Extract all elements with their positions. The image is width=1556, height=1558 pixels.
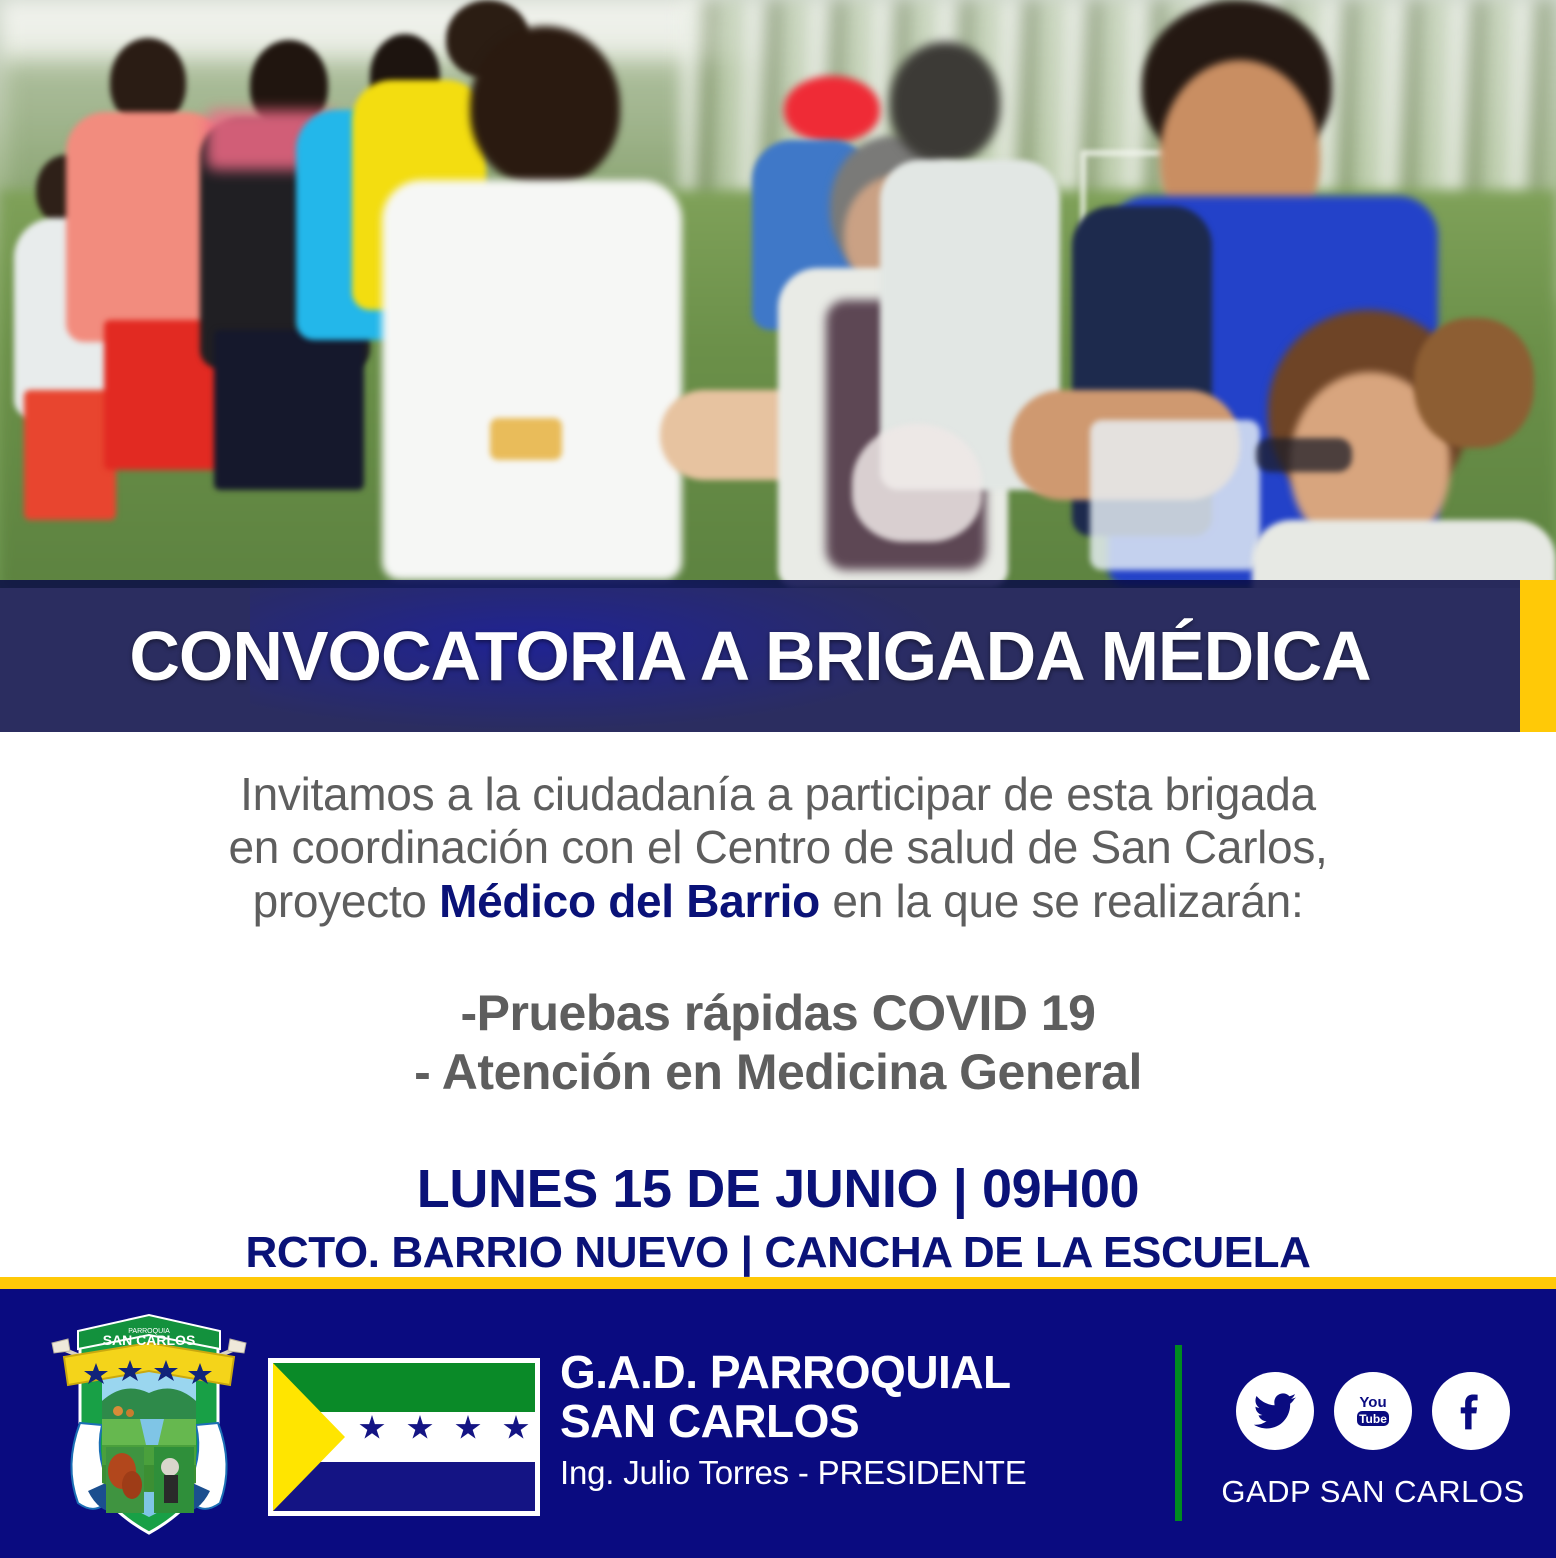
- crest-banner-text: SAN CARLOS: [103, 1332, 196, 1348]
- flag-star: [407, 1415, 433, 1441]
- footer-vertical-divider: [1175, 1345, 1182, 1521]
- organization-name-line-2: SAN CARLOS: [560, 1397, 1160, 1446]
- poster-body: Invitamos a la ciudadanía a participar d…: [0, 740, 1556, 1280]
- flag-stars: [359, 1415, 529, 1441]
- poster-root: CONVOCATORIA A BRIGADA MÉDICA Invitamos …: [0, 0, 1556, 1558]
- intro-line-2: en coordinación con el Centro de salud d…: [228, 821, 1327, 873]
- footer-divider-bar: [0, 1277, 1556, 1289]
- event-date-time: LUNES 15 DE JUNIO | 09H00: [0, 1160, 1556, 1219]
- project-name-highlight: Médico del Barrio: [439, 875, 820, 927]
- header-photo: [0, 0, 1556, 588]
- social-handle-label: GADP SAN CARLOS: [1218, 1474, 1528, 1510]
- intro-line-3-post: en la que se realizarán:: [820, 875, 1303, 927]
- organization-block: G.A.D. PARROQUIAL SAN CARLOS Ing. Julio …: [560, 1348, 1160, 1492]
- event-location: RCTO. BARRIO NUEVO | CANCHA DE LA ESCUEL…: [0, 1225, 1556, 1280]
- flag-icon: [268, 1358, 540, 1516]
- title-banner: CONVOCATORIA A BRIGADA MÉDICA: [0, 580, 1556, 732]
- flag-triangle: [273, 1363, 345, 1511]
- flag-star: [503, 1415, 529, 1441]
- coat-of-arms-icon: PARROQUIA SAN CARLOS: [44, 1305, 254, 1545]
- flag-star: [455, 1415, 481, 1441]
- event-details: LUNES 15 DE JUNIO | 09H00 RCTO. BARRIO N…: [0, 1160, 1556, 1280]
- social-icon-row: You Tube: [1218, 1372, 1528, 1450]
- intro-line-3-pre: proyecto: [253, 875, 440, 927]
- intro-line-1: Invitamos a la ciudadanía a participar d…: [240, 768, 1316, 820]
- service-item-general-medicine: - Atención en Medicina General: [0, 1043, 1556, 1102]
- flag-star: [359, 1415, 385, 1441]
- services-list: -Pruebas rápidas COVID 19 - Atención en …: [0, 984, 1556, 1102]
- organization-president: Ing. Julio Torres - PRESIDENTE: [560, 1454, 1160, 1492]
- facebook-icon[interactable]: [1432, 1372, 1510, 1450]
- twitter-icon[interactable]: [1236, 1372, 1314, 1450]
- service-item-covid-test: -Pruebas rápidas COVID 19: [0, 984, 1556, 1043]
- svg-text:You: You: [1359, 1394, 1386, 1411]
- banner-accent-bar: [1520, 580, 1556, 732]
- svg-text:Tube: Tube: [1359, 1412, 1387, 1426]
- poster-title: CONVOCATORIA A BRIGADA MÉDICA: [0, 580, 1500, 732]
- social-block: You Tube GADP SAN CARLOS: [1218, 1372, 1528, 1510]
- intro-paragraph: Invitamos a la ciudadanía a participar d…: [0, 768, 1556, 928]
- youtube-icon[interactable]: You Tube: [1334, 1372, 1412, 1450]
- organization-name-line-1: G.A.D. PARROQUIAL: [560, 1348, 1160, 1397]
